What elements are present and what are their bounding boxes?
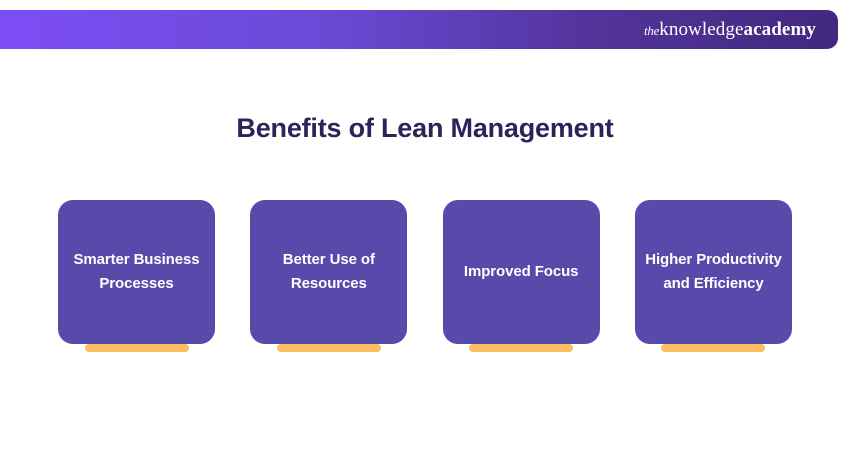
brand-header-bar: theknowledgeacademy [0,10,838,49]
card-accent-bar [469,344,573,352]
benefit-card-item[interactable]: Better Use of Resources [250,200,407,352]
card-accent-bar [85,344,189,352]
benefit-card-item[interactable]: Smarter Business Processes [58,200,215,352]
benefit-card-surface: Higher Productivity and Efficiency [635,200,792,344]
benefit-card-label: Smarter Business Processes [68,248,205,296]
benefit-card-label: Improved Focus [464,260,578,284]
brand-logo: theknowledgeacademy [644,20,816,39]
brand-logo-knowledge: knowledge [659,19,743,40]
benefit-card-item[interactable]: Higher Productivity and Efficiency [635,200,792,352]
benefit-card-label: Higher Productivity and Efficiency [645,248,782,296]
brand-logo-the: the [644,23,659,38]
benefit-card-label: Better Use of Resources [260,248,397,296]
brand-logo-academy: academy [744,19,816,40]
card-accent-bar [661,344,765,352]
benefits-card-row: Smarter Business Processes Better Use of… [58,200,792,352]
benefit-card-item[interactable]: Improved Focus [443,200,600,352]
page-title: Benefits of Lean Management [0,110,850,146]
benefit-card-surface: Improved Focus [443,200,600,344]
benefit-card-surface: Better Use of Resources [250,200,407,344]
benefit-card-surface: Smarter Business Processes [58,200,215,344]
card-accent-bar [277,344,381,352]
